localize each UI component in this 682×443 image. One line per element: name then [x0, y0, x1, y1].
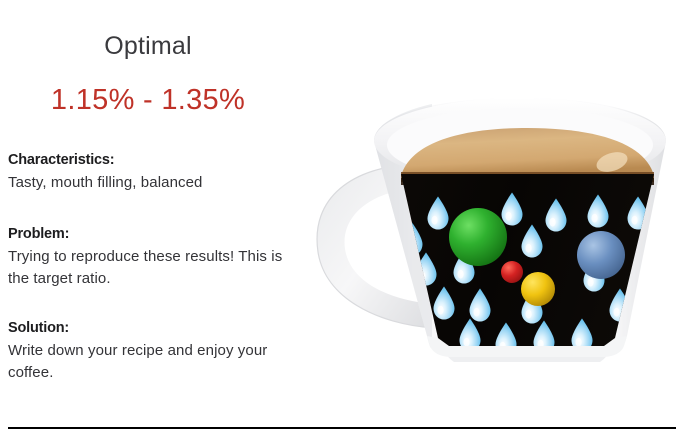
coffee-cup-illustration [282, 46, 682, 406]
section-solution: Solution: Write down your recipe and enj… [8, 320, 294, 384]
page-title: Optimal [0, 32, 296, 61]
section-body-characteristics: Tasty, mouth filling, balanced [8, 172, 294, 194]
section-characteristics: Characteristics: Tasty, mouth filling, b… [8, 152, 294, 194]
section-label-solution: Solution: [8, 320, 294, 336]
water-droplet [658, 197, 679, 230]
horizontal-divider [8, 427, 676, 429]
section-body-problem: Trying to reproduce these results! This … [8, 246, 294, 290]
red-sphere [501, 261, 523, 283]
ratio-range-value: 1.15% - 1.35% [0, 84, 296, 117]
section-label-problem: Problem: [8, 226, 294, 242]
blue-sphere [577, 231, 625, 279]
section-body-solution: Write down your recipe and enjoy your co… [8, 340, 294, 384]
yellow-sphere [521, 272, 555, 306]
info-panel: Optimal 1.15% - 1.35% Characteristics: T… [0, 0, 300, 443]
green-sphere [449, 208, 507, 266]
section-problem: Problem: Trying to reproduce these resul… [8, 226, 294, 290]
section-label-characteristics: Characteristics: [8, 152, 294, 168]
